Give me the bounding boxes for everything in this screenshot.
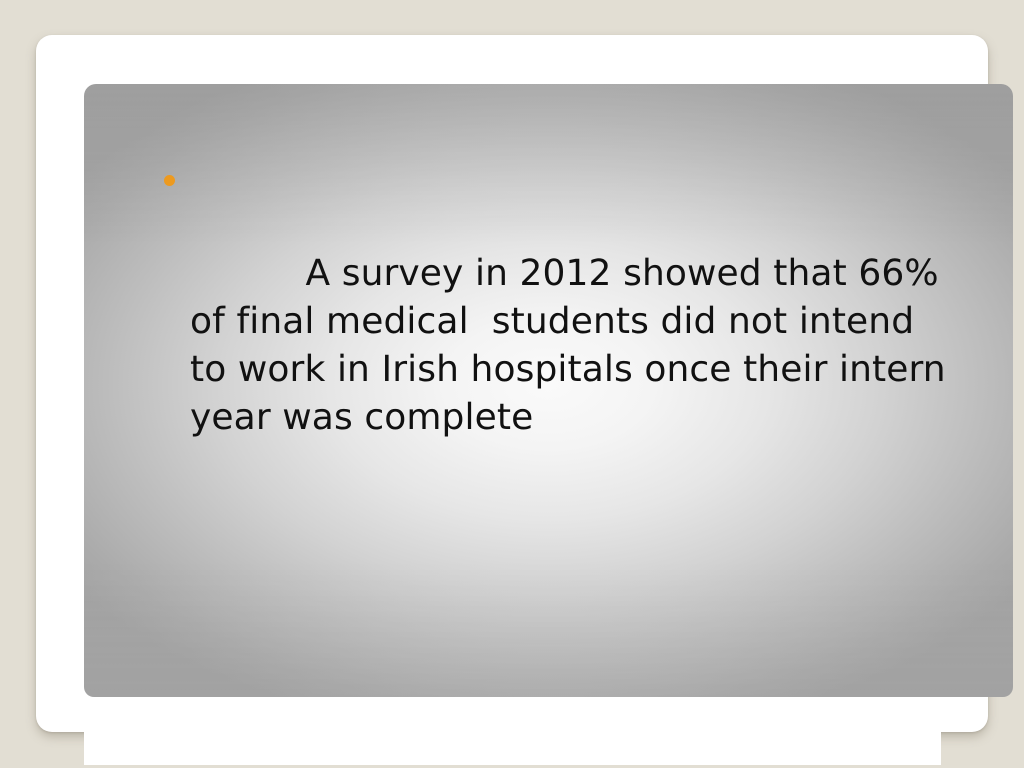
list-item: A survey in 2012 showed that 66% of fina…: [142, 154, 962, 490]
slide-body-text: A survey in 2012 showed that 66% of fina…: [142, 154, 962, 490]
bullet-dot-icon: [164, 175, 175, 186]
slide-content-panel: A survey in 2012 showed that 66% of fina…: [84, 84, 1013, 697]
slide-footer-area: [84, 697, 941, 765]
bullet-text: A survey in 2012 showed that 66% of fina…: [190, 253, 957, 438]
slide-card: A survey in 2012 showed that 66% of fina…: [36, 35, 988, 732]
presentation-slide: A survey in 2012 showed that 66% of fina…: [0, 0, 1024, 768]
